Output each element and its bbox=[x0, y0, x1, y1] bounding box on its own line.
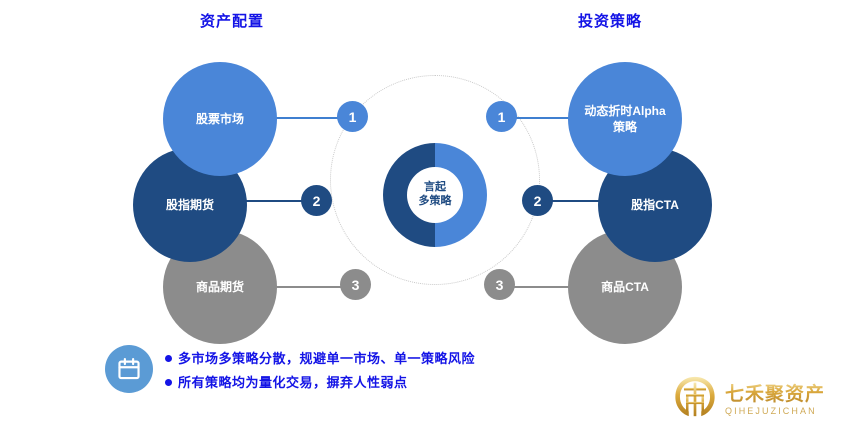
lobe-commodity-cta-label: 商品CTA bbox=[601, 279, 649, 295]
brand-name-cn: 七禾聚资产 bbox=[725, 379, 825, 406]
center-donut: 言起 多策略 bbox=[383, 143, 487, 247]
badge-right-3[interactable]: 3 bbox=[484, 269, 515, 300]
footer-bullet-2-text: 所有策略均为量化交易，摒弃人性弱点 bbox=[178, 372, 408, 391]
bullet-dot-icon bbox=[165, 355, 172, 362]
donut-label-line2: 多策略 bbox=[419, 195, 452, 209]
lobe-alpha-label-line1: 动态折时Alpha bbox=[584, 104, 665, 118]
section-title-investment-strategy: 投资策略 bbox=[578, 10, 642, 31]
badge-left-1[interactable]: 1 bbox=[337, 101, 368, 132]
badge-right-2[interactable]: 2 bbox=[522, 185, 553, 216]
donut-label-line1: 言起 bbox=[424, 181, 446, 195]
brand-name-en: QIHEJUZICHAN bbox=[725, 406, 825, 416]
bullet-dot-icon bbox=[165, 379, 172, 386]
lobe-dynamic-alpha-strategy-label: 动态折时Alpha 策略 bbox=[584, 103, 665, 135]
footer-bullet-1-text: 多市场多策略分散，规避单一市场、单一策略风险 bbox=[178, 348, 475, 367]
lobe-alpha-label-line2: 策略 bbox=[613, 120, 637, 134]
calendar-icon bbox=[105, 345, 153, 393]
lobe-dynamic-alpha-strategy[interactable]: 动态折时Alpha 策略 bbox=[568, 62, 682, 176]
footer-bullet-2: 所有策略均为量化交易，摒弃人性弱点 bbox=[165, 372, 475, 391]
footer-bullet-1: 多市场多策略分散，规避单一市场、单一策略风险 bbox=[165, 348, 475, 367]
lobe-equity-market-label: 股票市场 bbox=[196, 111, 244, 127]
section-title-asset-allocation: 资产配置 bbox=[200, 10, 264, 31]
lobe-commodity-futures-label: 商品期货 bbox=[196, 279, 244, 295]
brand-logo: 七禾聚资产 QIHEJUZICHAN bbox=[672, 374, 825, 420]
badge-left-2[interactable]: 2 bbox=[301, 185, 332, 216]
footer-callout: 多市场多策略分散，规避单一市场、单一策略风险 所有策略均为量化交易，摒弃人性弱点 bbox=[105, 345, 475, 393]
donut-center-label: 言起 多策略 bbox=[407, 167, 463, 223]
lobe-equity-market[interactable]: 股票市场 bbox=[163, 62, 277, 176]
slide-canvas: 资产配置 投资策略 股票市场 股指期货 商品期货 动态折时Alpha 策略 股指… bbox=[0, 0, 844, 427]
brand-logo-text: 七禾聚资产 QIHEJUZICHAN bbox=[725, 379, 825, 416]
qihe-logo-mark bbox=[672, 374, 718, 420]
badge-left-3[interactable]: 3 bbox=[340, 269, 371, 300]
lobe-index-cta-label: 股指CTA bbox=[631, 197, 679, 213]
badge-right-1[interactable]: 1 bbox=[486, 101, 517, 132]
footer-bullet-list: 多市场多策略分散，规避单一市场、单一策略风险 所有策略均为量化交易，摒弃人性弱点 bbox=[165, 348, 475, 391]
lobe-index-futures-label: 股指期货 bbox=[166, 197, 214, 213]
